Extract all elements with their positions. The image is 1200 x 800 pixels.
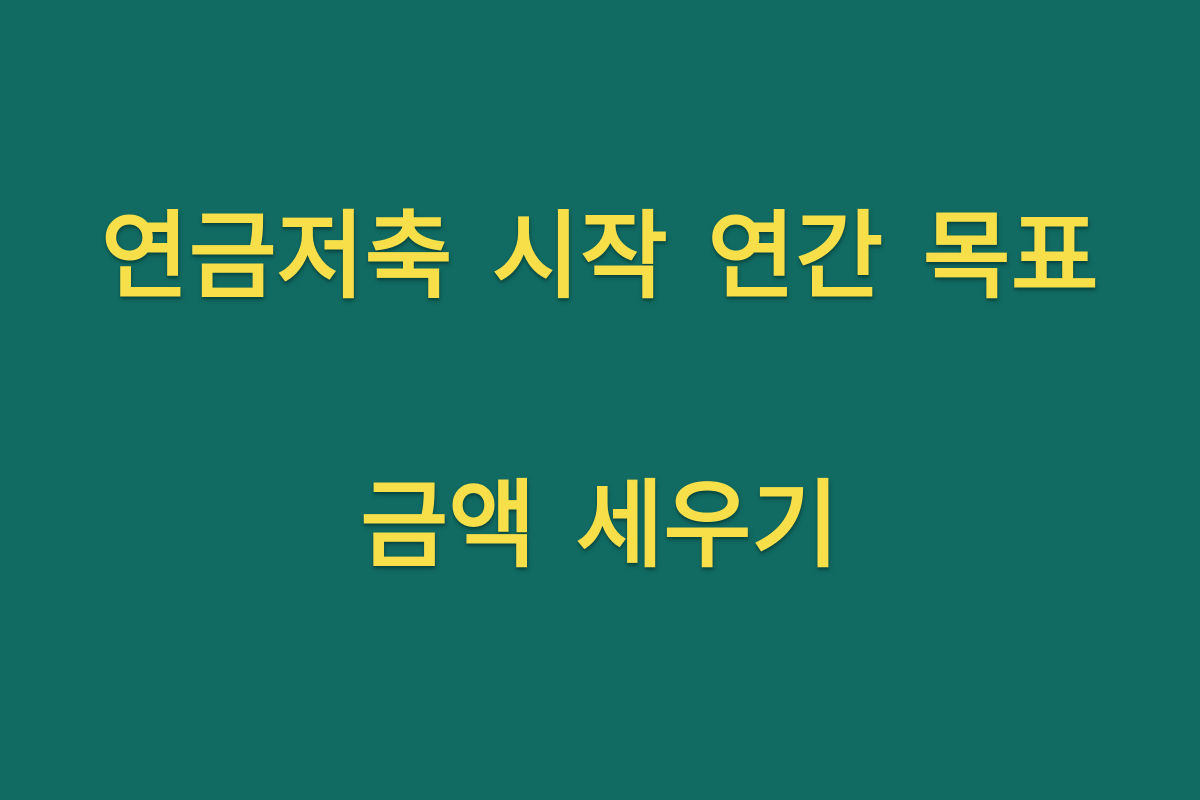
headline-block: 연금저축 시작 연간 목표 금액 세우기 <box>0 55 1200 729</box>
headline-line-1: 연금저축 시작 연간 목표 <box>40 190 1160 325</box>
banner-canvas: 연금저축 시작 연간 목표 금액 세우기 <box>0 0 1200 800</box>
headline-line-2: 금액 세우기 <box>40 459 1160 594</box>
page-title: 연금저축 시작 연간 목표 금액 세우기 <box>40 55 1160 729</box>
